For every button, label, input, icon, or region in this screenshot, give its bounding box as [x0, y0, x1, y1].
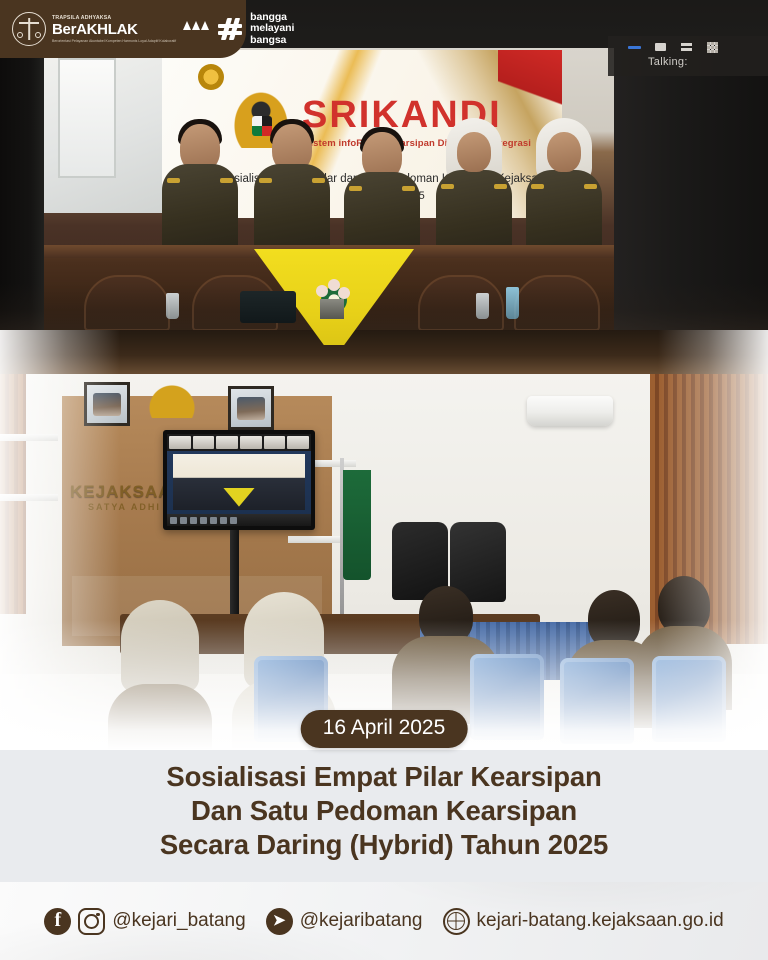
facebook-icon[interactable]: f	[44, 908, 71, 935]
header-logo-bar: TRAPSILA ADHYAKSA BerAKHLAK Berorientasi…	[0, 0, 246, 58]
flower-vase	[320, 299, 344, 319]
title-line-2: Dan Satu Pedoman Kearsipan	[0, 794, 768, 828]
water-bottle	[506, 287, 519, 319]
table-panel	[418, 275, 504, 331]
video-participant	[162, 124, 238, 249]
taskbar-icon	[200, 517, 207, 524]
video-left-letterbox	[0, 40, 44, 345]
bmb-line-3: bangsa	[250, 35, 294, 46]
thumbnail	[216, 436, 238, 449]
flower-arrangement	[312, 277, 352, 319]
twitter-icon[interactable]: ➤	[266, 908, 293, 935]
drinking-glass	[476, 293, 489, 319]
taskbar-icon	[230, 517, 237, 524]
television-screen	[163, 430, 315, 530]
drinking-glass	[166, 293, 179, 319]
participant-uniform	[526, 170, 602, 256]
social-footer: f @kejari_batang ➤ @kejaribatang kejari-…	[0, 882, 768, 960]
website-url[interactable]: kejari-batang.kejaksaan.go.id	[477, 910, 724, 932]
room-photo: KEJAKSAAN SATYA ADHI WICAKSANA	[0, 330, 768, 750]
taskbar-icon	[190, 517, 197, 524]
taskbar-icon	[220, 517, 227, 524]
bmb-line-2: melayani	[250, 23, 294, 34]
berakhlak-logo: TRAPSILA ADHYAKSA BerAKHLAK Berorientasi…	[52, 14, 176, 44]
table-panel	[84, 275, 170, 331]
video-feed: SRIKANDI Sistem infoRmasi Kearsipan Dina…	[44, 48, 614, 345]
chevron-up-icon	[183, 21, 209, 30]
taskbar-icon	[210, 517, 217, 524]
video-participant	[254, 124, 330, 249]
thumbnail	[193, 436, 215, 449]
hashtag-icon	[218, 17, 242, 41]
participant-head	[457, 132, 491, 172]
video-participant-center	[344, 132, 420, 257]
tv-participant-thumbnails	[167, 434, 311, 451]
tv-main-video	[173, 454, 305, 510]
title-line-3: Secara Daring (Hybrid) Tahun 2025	[0, 828, 768, 862]
participant-head	[547, 132, 581, 172]
split-view-icon[interactable]	[680, 41, 693, 53]
video-right-letterbox	[608, 36, 768, 345]
poster-canvas: SRIKANDI Sistem infoRmasi Kearsipan Dina…	[0, 0, 768, 960]
seal-dot	[35, 32, 41, 38]
thumbnail	[264, 436, 286, 449]
twitter-handle[interactable]: @kejaribatang	[300, 910, 423, 932]
vice-president-portrait	[228, 386, 274, 430]
table-panel	[514, 275, 600, 331]
thumbnail	[169, 436, 191, 449]
kejaksaan-seal-icon	[12, 12, 46, 46]
taskbar-icon	[180, 517, 187, 524]
gallery-view-icon[interactable]	[706, 41, 719, 53]
bangga-melayani-bangsa-logo: bangga melayani bangsa	[250, 12, 294, 46]
instagram-icon[interactable]	[78, 908, 105, 935]
berakhlak-title: BerAKHLAK	[52, 22, 176, 37]
minimize-icon[interactable]	[628, 41, 641, 53]
participant-uniform	[254, 164, 330, 250]
talking-label: Talking:	[648, 56, 688, 68]
tv-display	[167, 434, 311, 526]
thumbnail	[240, 436, 262, 449]
video-controls-overlay[interactable]: Talking:	[608, 36, 768, 76]
garuda-emblem-icon	[148, 384, 196, 418]
website-group[interactable]: kejari-batang.kejaksaan.go.id	[443, 908, 724, 935]
seal-dot	[17, 32, 23, 38]
thumbnail	[287, 436, 309, 449]
table-laptop	[240, 291, 296, 323]
green-flag	[343, 470, 371, 580]
twitter-group[interactable]: ➤ @kejaribatang	[266, 908, 423, 935]
instagram-handle[interactable]: @kejari_batang	[112, 910, 245, 932]
air-conditioner-icon	[527, 396, 613, 426]
date-badge: 16 April 2025	[301, 710, 468, 748]
instagram-group[interactable]: f @kejari_batang	[44, 908, 245, 935]
berakhlak-tagline: Berorientasi Pelayanan Akuntabel Kompete…	[52, 39, 176, 44]
video-participant	[436, 124, 512, 249]
poster-title: Sosialisasi Empat Pilar Kearsipan Dan Sa…	[0, 760, 768, 861]
title-line-1: Sosialisasi Empat Pilar Kearsipan	[0, 760, 768, 794]
flower-bloom	[338, 287, 350, 299]
video-participant	[526, 124, 602, 249]
participant-uniform	[436, 170, 512, 256]
globe-icon[interactable]	[443, 908, 470, 935]
srikandi-badge-icon	[198, 64, 224, 90]
view-mode-icons[interactable]	[628, 41, 719, 53]
speaker-view-icon[interactable]	[654, 41, 667, 53]
flower-bloom	[316, 285, 328, 297]
tv-windows-taskbar	[167, 514, 311, 526]
participant-uniform	[162, 164, 238, 250]
banner-red-corner	[498, 50, 562, 106]
taskbar-icon	[170, 517, 177, 524]
